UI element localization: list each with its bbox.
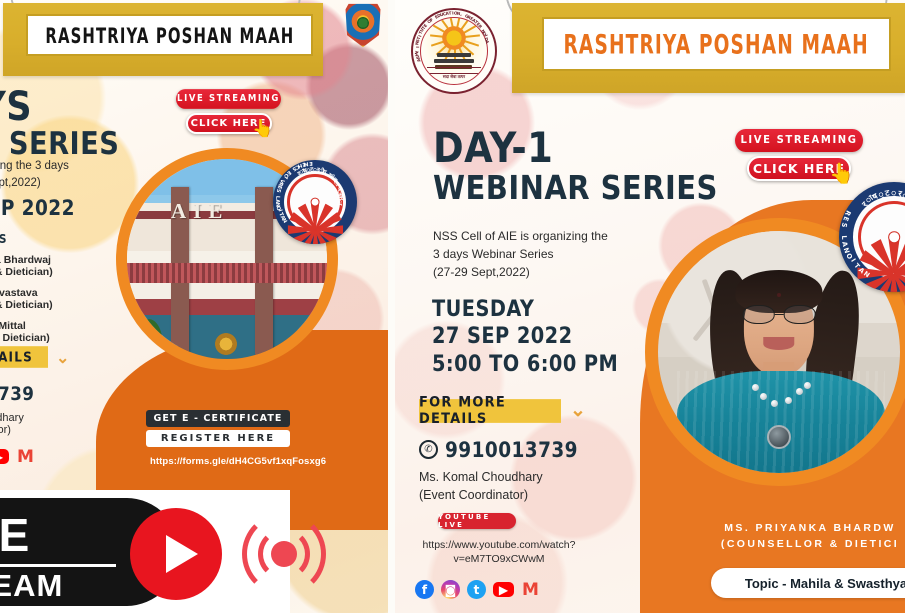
header-band-right: RASHTRIYA POSHAN MAAH [512,3,905,93]
left-intro-text: is organizing the 3 days (27-29 Sept,202… [0,158,69,193]
hand-cursor-icon-left: 👆 [252,120,273,137]
phone-icon-right: ✆ [419,440,438,459]
left-phone: 13739 [0,383,34,405]
eyeglasses-icon [743,305,816,324]
left-poster: RASHTRIYA POSHAN MAAH AYS AR SERIES is o… [0,0,388,613]
header-plate-left: RASHTRIYA POSHAN MAAH [26,14,313,56]
left-speakers-label: KERS [0,232,7,246]
live-stream-line-2: REAM [0,570,63,601]
live-streaming-label-right: LIVE STREAMING [735,129,863,152]
right-weekday: TUESDAY [432,296,618,323]
header-plate-right: RASHTRIYA POSHAN MAAH [542,17,891,71]
aie-logo-right: सदा सेवा तत्पर ARMY INSTITUTE OF EDUCATI… [411,8,497,94]
youtube-icon-left[interactable]: ▶ [0,449,9,464]
gmail-icon[interactable]: M [521,580,540,599]
left-more-details-chip[interactable]: DETAILS [0,346,48,368]
play-icon[interactable] [130,508,222,600]
right-date: 27 SEP 2022 [432,323,618,350]
left-day-title: AYS AR SERIES [0,88,142,161]
right-poster: सदा सेवा तत्पर ARMY INSTITUTE OF EDUCATI… [395,0,905,613]
chevron-down-icon-right[interactable]: ⌄ [570,399,586,422]
right-day-title: DAY-1 [433,127,718,169]
left-social-row: ▶ M [0,447,35,466]
aie-logo-arc-text: ARMY INSTITUTE OF EDUCATION, GREATER NOI… [411,8,497,94]
hand-cursor-icon-right: 👆 [829,164,854,184]
live-streaming-badge-left[interactable]: LIVE STREAMING CLICK HERE 👆 [176,90,281,134]
chevron-down-icon-left[interactable]: ⌄ [56,348,69,368]
right-intro-text: NSS Cell of AIE is organizing the 3 days… [433,227,608,282]
screenshot-canvas: RASHTRIYA POSHAN MAAH AYS AR SERIES is o… [0,0,905,613]
right-youtube-url[interactable]: https://www.youtube.com/watch? v=eM7TO9x… [403,538,595,566]
right-datetime: TUESDAY 27 SEP 2022 5:00 TO 6:00 PM [432,296,644,378]
right-coordinator: Ms. Komal Choudhary (Event Coordinator) [419,468,543,504]
building-sign-text: AIE [171,199,229,224]
speaker-name-right: MS. PRIYANKA BHARDW [685,520,905,536]
topic-pill-right: Topic - Mahila & Swasthya [711,568,905,598]
right-time: 5:00 TO 6:00 PM [432,351,618,378]
form-url-left[interactable]: https://forms.gle/dH4CG5vf1xqFosxg6 [150,456,326,467]
nss-logo-left: राष्ट्रीय सेवा योजना NATIONAL SERVICE SC… [273,160,357,244]
right-headline: DAY-1 WEBINAR SERIES [433,127,757,206]
left-speaker-item: cha Srivastava ionist & Dietician) [0,287,53,311]
youtube-icon[interactable]: ▶ [493,582,514,597]
aie-logo-left [344,2,382,48]
facebook-icon[interactable]: f [415,580,434,599]
live-stream-overlay: VE REAM [0,490,290,613]
right-series-title: WEBINAR SERIES [433,170,718,206]
necklace-detail [750,381,808,454]
twitter-icon[interactable]: t [467,580,486,599]
right-phone: 9910013739 [445,438,578,462]
broadcast-waves-icon [228,518,340,590]
left-speakers-list: riyanka Bhardwaj sellor & Dietician) cha… [0,254,53,344]
instagram-icon[interactable]: ◙ [441,580,460,599]
header-band-left: RASHTRIYA POSHAN MAAH [3,3,323,76]
live-streaming-badge-right[interactable]: LIVE STREAMING CLICK HERE 👆 [735,130,863,181]
youtube-live-pill-right[interactable]: YOUTUBE LIVE [438,513,516,529]
nss-logo-right: राष्ट्रीय से NATIONAL SER [839,182,905,292]
register-here-chip-left[interactable]: REGISTER HERE [146,430,290,447]
speaker-name-band-right: MS. PRIYANKA BHARDW (COUNSELLOR & DIETIC… [685,520,905,553]
live-stream-divider [0,564,116,567]
right-social-row: f ◙ t ▶ M [415,580,540,599]
left-speaker-item: Shilpa Mittal onist & Dietician) [0,320,53,344]
right-more-details-chip[interactable]: FOR MORE DETAILS [419,399,561,423]
left-date: SEP 2022 [0,196,75,220]
get-certificate-chip-left[interactable]: GET E - CERTIFICATE [146,410,290,427]
header-title-right: RASHTRIYA POSHAN MAAH [564,28,869,60]
gmail-icon-left[interactable]: M [16,447,35,466]
speaker-role-right: (COUNSELLOR & DIETICI [685,536,905,552]
left-coordinator: Choudhary rdinator) [0,412,24,436]
header-title-left: RASHTRIYA POSHAN MAAH [45,22,294,48]
live-streaming-label-left: LIVE STREAMING [176,89,281,109]
left-speaker-item: riyanka Bhardwaj sellor & Dietician) [0,254,53,278]
live-stream-line-1: VE [0,512,31,558]
aie-logo-left-emblem [357,17,369,29]
